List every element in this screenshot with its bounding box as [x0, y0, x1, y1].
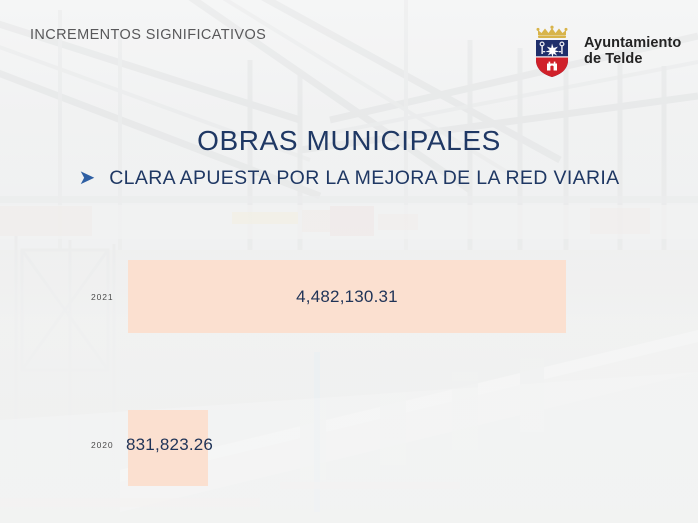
bar-value-label-2020: 831,823.26: [126, 435, 286, 455]
bar-value-label-2021: 4,482,130.31: [128, 287, 566, 307]
bar-category-label-2020: 2020: [91, 440, 114, 450]
horizontal-bar-chart: 20214,482,130.312020831,823.26: [0, 0, 698, 523]
slide-canvas: INCREMENTOS SIGNIFICATIVOS: [0, 0, 698, 523]
bar-category-label-2021: 2021: [91, 292, 114, 302]
